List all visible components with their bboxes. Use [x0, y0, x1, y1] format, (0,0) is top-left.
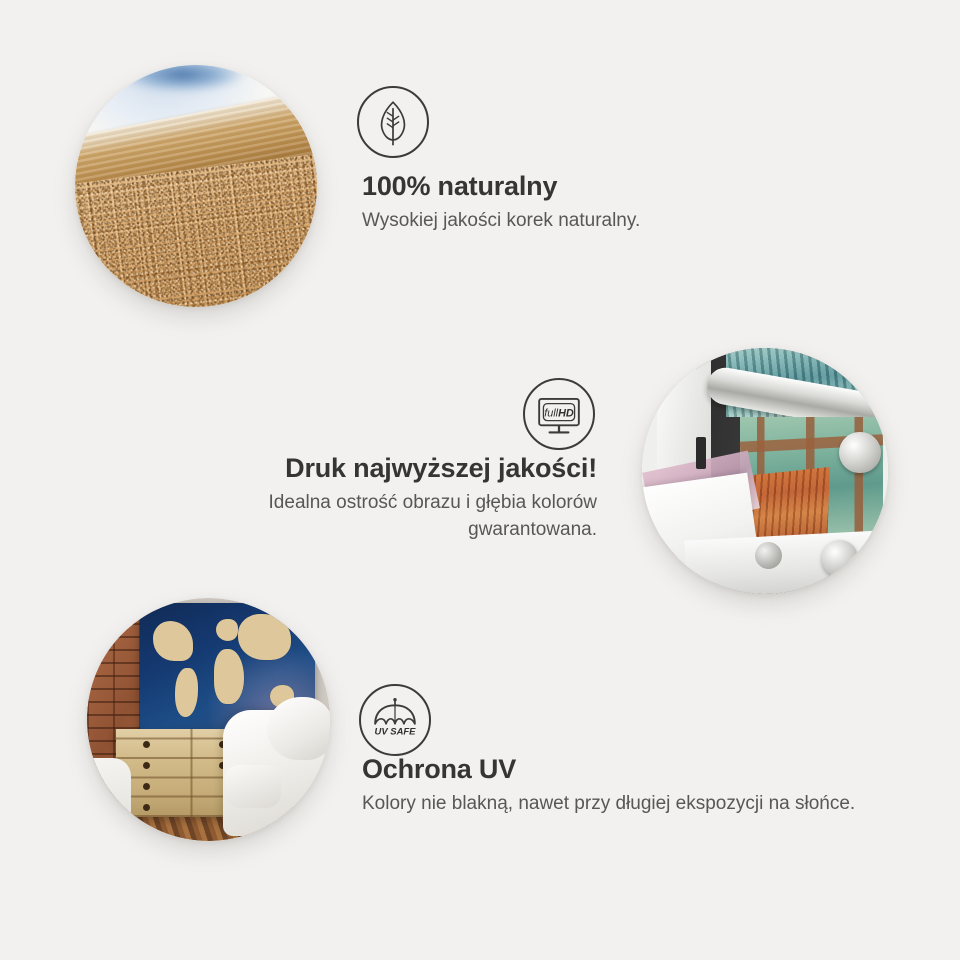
feature-highlights-page: 100% naturalny Wysokiej jakości korek na… — [0, 0, 960, 960]
map-continent — [153, 621, 193, 662]
drawer-knob — [143, 783, 150, 790]
living-room-world-map-photo — [87, 598, 330, 841]
feature-natural: 100% naturalny Wysokiej jakości korek na… — [362, 170, 782, 235]
drawer-knob — [143, 741, 150, 748]
feature-title-print: Druk najwyższej jakości! — [197, 452, 597, 484]
armchair-right — [223, 710, 330, 836]
cushion — [267, 697, 330, 760]
printer-lever — [696, 437, 706, 469]
printer-knob-bottom — [822, 540, 859, 577]
feature-image-uv — [87, 598, 330, 841]
map-continent — [175, 668, 198, 717]
feature-description-print: Idealna ostrość obrazu i głębia kolorów … — [197, 490, 597, 542]
feature-title-uv: Ochrona UV — [362, 753, 862, 785]
map-continent — [214, 649, 244, 703]
feature-image-natural — [75, 65, 317, 307]
feature-uv: Ochrona UV Kolory nie blakną, nawet przy… — [362, 753, 862, 818]
printer-knob-right — [839, 432, 881, 474]
feature-image-print — [642, 348, 888, 594]
feature-print: Druk najwyższej jakości! Idealna ostrość… — [197, 452, 597, 543]
fullhd-monitor-icon: fullHD — [523, 378, 595, 450]
map-continent — [238, 614, 290, 660]
map-continent — [216, 619, 239, 641]
drawer-knob — [143, 762, 150, 769]
printing-machine-photo — [642, 348, 888, 594]
cork-texture-photo — [75, 65, 317, 307]
feature-description-uv: Kolory nie blakną, nawet przy długiej ek… — [362, 791, 862, 817]
drawer-knob — [143, 804, 150, 811]
uv-safe-umbrella-icon: UV SAFE — [359, 684, 431, 756]
uv-safe-label: UV SAFE — [375, 727, 417, 738]
feature-title-natural: 100% naturalny — [362, 170, 782, 202]
armchair-left — [87, 758, 131, 841]
leaf-icon — [357, 86, 429, 158]
feature-description-natural: Wysokiej jakości korek naturalny. — [362, 208, 782, 234]
fullhd-label-part1: fullHD — [544, 407, 574, 419]
